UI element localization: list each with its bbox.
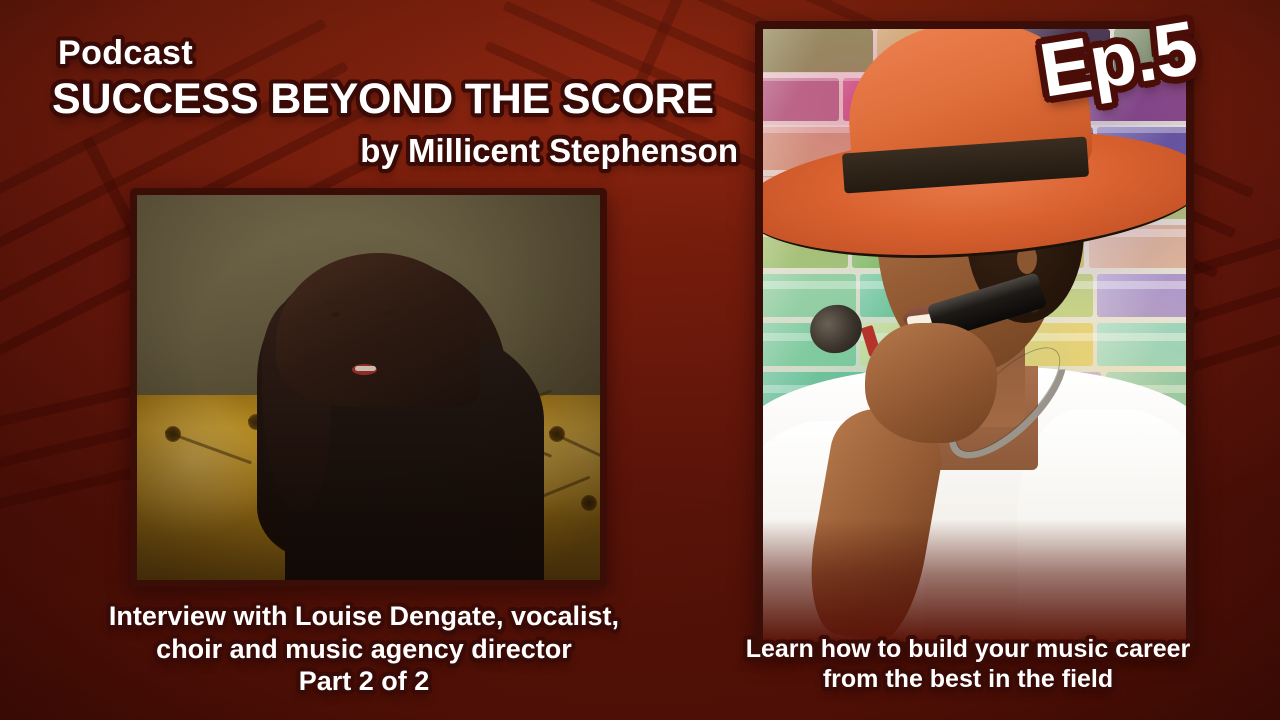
caption-left-line-1: Interview with Louise Dengate, vocalist, (44, 600, 684, 633)
caption-right: Learn how to build your music career fro… (660, 634, 1276, 694)
header-block: Podcast SUCCESS BEYOND THE SCORE by Mill… (52, 36, 752, 169)
caption-left-line-2: choir and music agency director (44, 633, 684, 666)
podcast-cover-canvas: Podcast SUCCESS BEYOND THE SCORE by Mill… (0, 0, 1280, 720)
page-title: SUCCESS BEYOND THE SCORE (52, 76, 752, 122)
caption-right-line-1: Learn how to build your music career (660, 634, 1276, 664)
podcast-kicker: Podcast (58, 36, 752, 72)
caption-left-line-3: Part 2 of 2 (44, 665, 684, 698)
louise-dengate-photo (130, 188, 607, 587)
millicent-stephenson-photo (755, 21, 1194, 650)
millicent-photo-scene (763, 29, 1186, 642)
right-photo-bottom-fade (763, 519, 1186, 642)
host-byline: by Millicent Stephenson (52, 133, 752, 169)
caption-right-line-2: from the best in the field (660, 664, 1276, 694)
caption-left: Interview with Louise Dengate, vocalist,… (44, 600, 684, 698)
millicent-hand (865, 323, 997, 443)
louise-photo-scene (137, 195, 600, 580)
louise-photo-colour-grade (137, 195, 600, 580)
